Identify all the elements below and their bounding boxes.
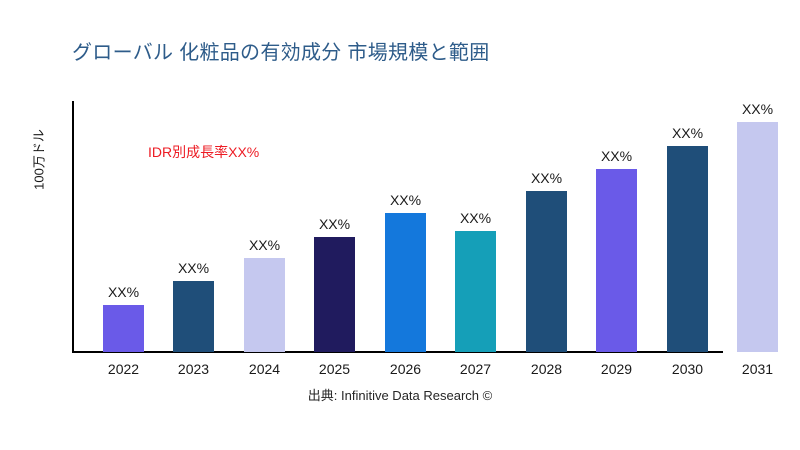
bar-2022[interactable] — [103, 305, 144, 352]
bar-2028[interactable] — [526, 191, 567, 352]
bar-2025[interactable] — [314, 237, 355, 352]
bar-2024[interactable] — [244, 258, 285, 352]
bar-value-label-2030: XX% — [672, 125, 703, 141]
bar-group-2031[interactable]: XX%2031 — [737, 122, 778, 352]
bar-group-2025[interactable]: XX%2025 — [314, 237, 355, 352]
bar-group-2022[interactable]: XX%2022 — [103, 305, 144, 352]
bar-value-label-2024: XX% — [249, 237, 280, 253]
bar-value-label-2031: XX% — [742, 101, 773, 117]
bar-value-label-2025: XX% — [319, 216, 350, 232]
bar-group-2027[interactable]: XX%2027 — [455, 231, 496, 352]
x-tick-label-2031: 2031 — [742, 361, 773, 377]
bar-group-2030[interactable]: XX%2030 — [667, 146, 708, 352]
x-tick-label-2029: 2029 — [601, 361, 632, 377]
bar-2023[interactable] — [173, 281, 214, 352]
growth-rate-annotation: IDR別成長率XX% — [148, 142, 259, 162]
x-tick-label-2028: 2028 — [531, 361, 562, 377]
x-tick-label-2023: 2023 — [178, 361, 209, 377]
bar-value-label-2028: XX% — [531, 170, 562, 186]
bar-group-2029[interactable]: XX%2029 — [596, 169, 637, 352]
bar-value-label-2027: XX% — [460, 210, 491, 226]
x-tick-label-2030: 2030 — [672, 361, 703, 377]
bar-2026[interactable] — [385, 213, 426, 352]
x-tick-label-2025: 2025 — [319, 361, 350, 377]
x-tick-label-2027: 2027 — [460, 361, 491, 377]
chart-container: グローバル 化粧品の有効成分 市場規模と範囲 100万ドル XX%2022XX%… — [0, 0, 800, 450]
x-tick-label-2022: 2022 — [108, 361, 139, 377]
bar-2030[interactable] — [667, 146, 708, 352]
bar-group-2024[interactable]: XX%2024 — [244, 258, 285, 352]
x-tick-label-2026: 2026 — [390, 361, 421, 377]
x-tick-label-2024: 2024 — [249, 361, 280, 377]
bar-value-label-2023: XX% — [178, 260, 209, 276]
bar-2027[interactable] — [455, 231, 496, 352]
bar-value-label-2026: XX% — [390, 192, 421, 208]
bar-group-2026[interactable]: XX%2026 — [385, 213, 426, 352]
bar-2029[interactable] — [596, 169, 637, 352]
bar-value-label-2022: XX% — [108, 284, 139, 300]
source-caption: 出典: Infinitive Data Research © — [0, 385, 800, 404]
bar-group-2028[interactable]: XX%2028 — [526, 191, 567, 352]
bar-value-label-2029: XX% — [601, 148, 632, 164]
bar-group-2023[interactable]: XX%2023 — [173, 281, 214, 352]
plot-area: XX%2022XX%2023XX%2024XX%2025XX%2026XX%20… — [0, 0, 800, 450]
bar-2031[interactable] — [737, 122, 778, 352]
